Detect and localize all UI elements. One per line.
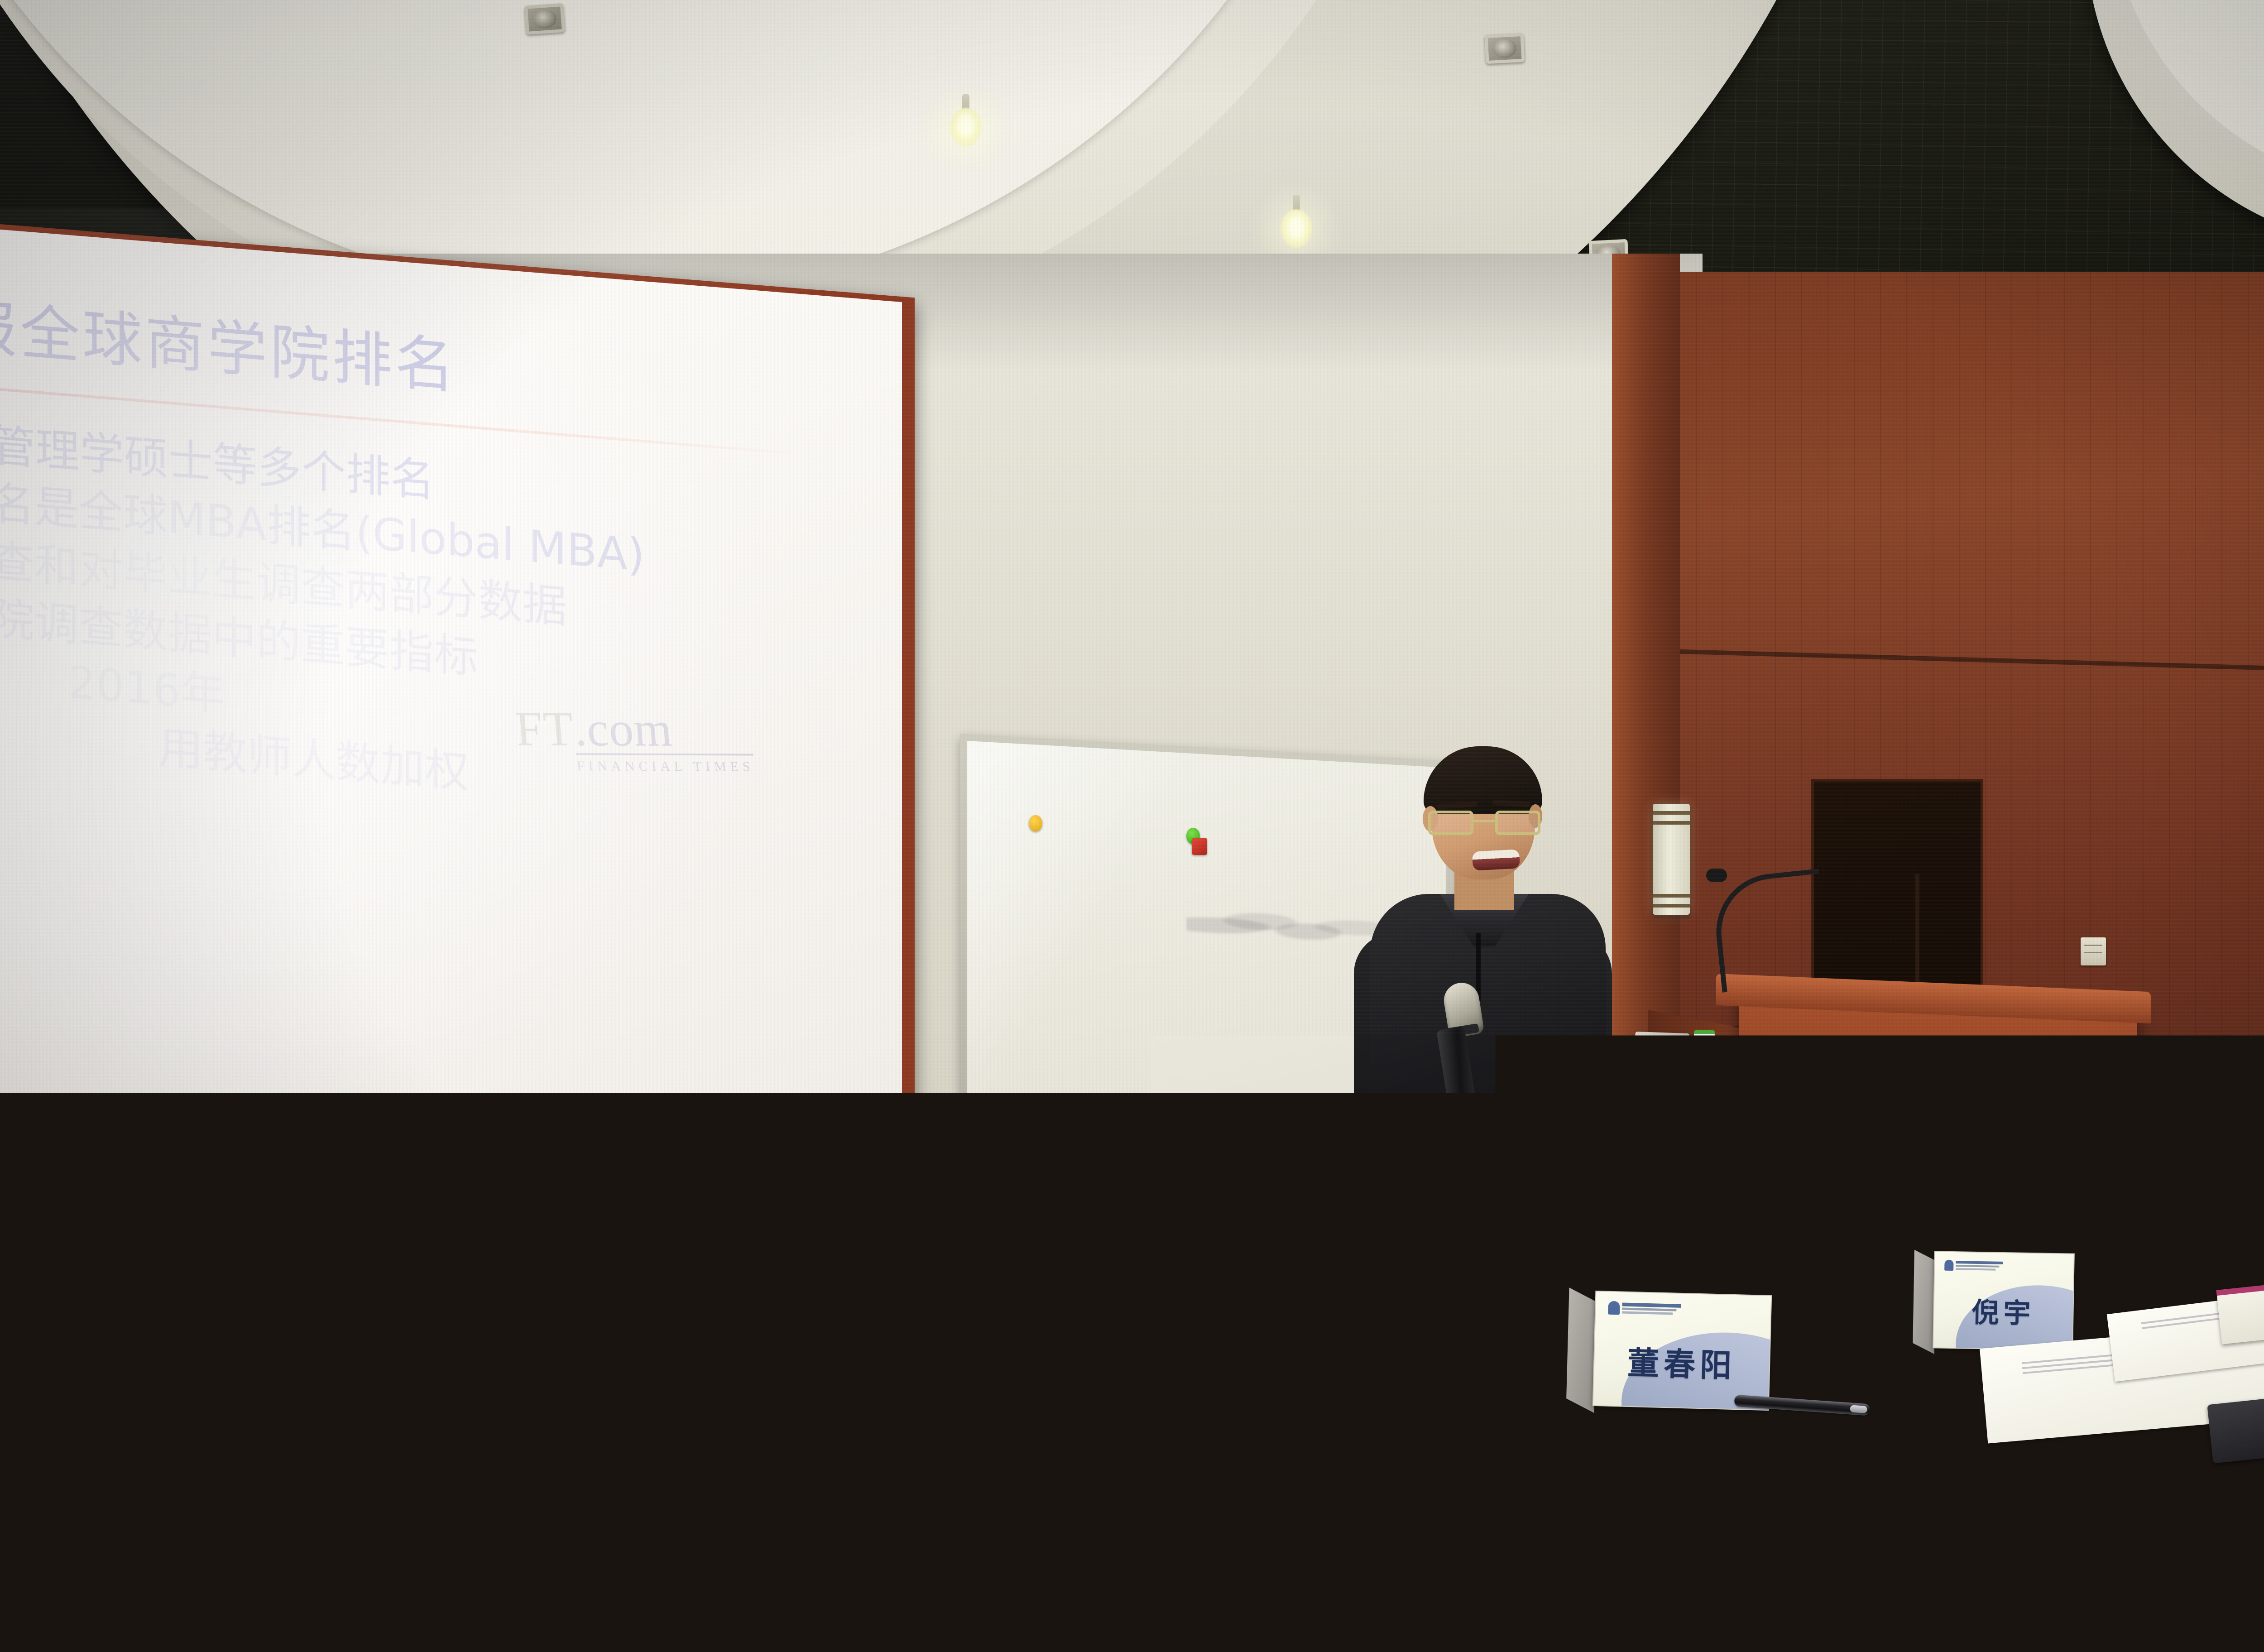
bottle-sub: 纯净水 [1684,1122,1724,1134]
eyeglass-bridge [1473,820,1495,822]
speaker-polo-placket [1476,933,1481,1001]
name-tent-card[interactable]: 董春阳 [1592,1291,1772,1411]
whiteboard-eraser[interactable] [987,1132,1012,1145]
school-crest-icon [1945,1260,1954,1271]
bottle-cap [2222,1150,2248,1170]
recessed-downlight-icon [524,3,565,35]
potted-poinsettia [1214,1286,1386,1540]
letterhead-lines [1622,1303,1681,1315]
financial-times-logo: FT.com FINANCIAL TIMES [513,701,755,774]
speaker-mouth [1472,849,1520,870]
whiteboard-magnet-red-icon[interactable] [1192,838,1207,855]
ceiling-lamp-icon [1281,209,1312,248]
ceiling-lamp-icon [950,108,982,147]
recessed-downlight-icon [1484,33,1525,64]
lecture-hall-photo: 报全球商学院排名 A\管理学硕士等多个排名 排名是全球MBA排名(Global … [0,0,2264,1652]
name-tent-card[interactable]: 倪宇 [1933,1251,2075,1350]
wall-switch-plate[interactable] [2081,937,2106,965]
poinsettia-leaves [1214,1286,1386,1443]
bottle-cap [1887,1150,1921,1170]
name-tent-name: 倪宇 [1934,1290,2073,1332]
name-tent-letterhead [1945,1260,2003,1272]
whiteboard-magnet-yellow-icon[interactable] [1029,815,1042,831]
bottle-label: 怡宝 纯净水 [1684,1101,1724,1138]
slide-title: 报全球商学院排名 [0,294,884,435]
document-text-lines [2240,1551,2264,1573]
cable-grommet [1243,1149,1270,1162]
podium-sign-blue-block [1791,1037,1863,1108]
bottle-sub: 纯净水 [1464,1330,1534,1350]
university-emblem-icon [1802,1049,1849,1095]
ft-logo-mark: FT [513,702,576,756]
podium-sign-text: 北京科技大学经济管理学院 School of Economics and Man… [1863,1040,2090,1118]
bottle-cap [1694,1032,1715,1052]
presentation-clicker[interactable] [1501,1096,1547,1142]
name-tent-face: 董春阳 [1592,1291,1772,1411]
speaker-eyeglasses-icon [1428,811,1540,837]
school-crest-icon [1608,1301,1620,1315]
bottle-label: 怡宝 纯净水 [1464,1289,1534,1356]
gooseneck-mic-head-icon [1706,869,1727,882]
podium-sign: 北京科技大学经济管理学院 School of Economics and Man… [1791,1037,2090,1118]
water-bottle[interactable]: 怡宝 纯净水 [1684,1032,1725,1164]
name-tent-face: 倪宇 [1933,1251,2075,1350]
name-tent-letterhead [1608,1301,1681,1316]
bottle-cap [2141,1157,2168,1177]
bottle-cap [1481,1164,1517,1184]
letterhead-lines [1956,1261,2003,1271]
wall-socket-icon[interactable] [235,1186,259,1199]
ft-logo-domain: .com [572,702,674,757]
bottle-sub: 纯净水 [2129,1269,2179,1283]
name-tent-name: 董春阳 [1594,1337,1770,1387]
presentation-slide: 报全球商学院排名 A\管理学硕士等多个排名 排名是全球MBA排名(Global … [0,227,902,1261]
terracotta-pot [1234,1423,1365,1540]
eyeglass-lens-left [1428,811,1473,835]
eyeglass-lens-right [1495,811,1540,835]
bottle-label: 怡宝 纯净水 [2129,1242,2179,1287]
water-bottle[interactable]: 怡宝 纯净水 [1463,1164,1535,1404]
